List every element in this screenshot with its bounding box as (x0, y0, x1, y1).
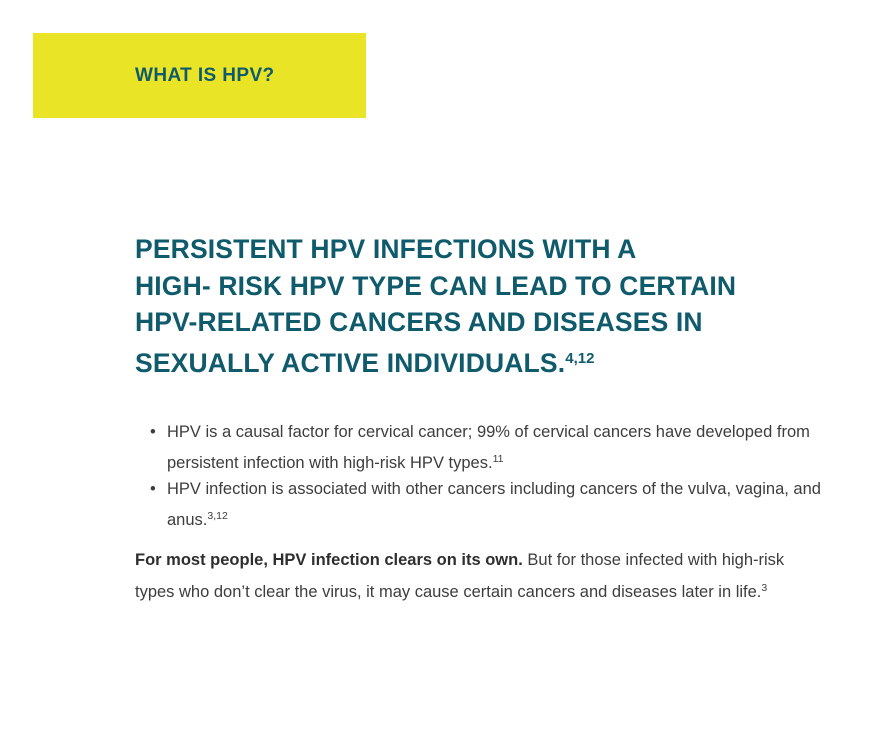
fact-bullet-list: •HPV is a causal factor for cervical can… (150, 419, 830, 533)
page-root: WHAT IS HPV? PERSISTENT HPV INFECTIONS W… (0, 0, 873, 738)
headline-line-3: HPV-RELATED CANCERS AND DISEASES IN (135, 307, 703, 337)
banner-title: WHAT IS HPV? (135, 65, 275, 87)
closing-paragraph: For most people, HPV infection clears on… (135, 546, 825, 606)
bullet-marker: • (150, 419, 156, 446)
closing-citation: 3 (761, 582, 767, 594)
headline-line-1: PERSISTENT HPV INFECTIONS WITH A (135, 234, 636, 264)
list-item-text: HPV is a causal factor for cervical canc… (167, 423, 810, 472)
section-banner: WHAT IS HPV? (33, 33, 366, 118)
list-item: •HPV infection is associated with other … (150, 476, 830, 533)
list-item: •HPV is a causal factor for cervical can… (150, 419, 830, 476)
list-item-citation: 11 (493, 453, 504, 465)
page-title: PERSISTENT HPV INFECTIONS WITH A HIGH- R… (135, 231, 835, 381)
list-item-citation: 3,12 (207, 510, 227, 522)
closing-lead-in: For most people, HPV infection clears on… (135, 551, 523, 569)
content-column: PERSISTENT HPV INFECTIONS WITH A HIGH- R… (135, 231, 835, 381)
headline-line-2: HIGH- RISK HPV TYPE CAN LEAD TO CERTAIN (135, 271, 736, 301)
headline-line-4: SEXUALLY ACTIVE INDIVIDUALS. (135, 348, 565, 378)
bullet-marker: • (150, 476, 156, 503)
list-item-text: HPV infection is associated with other c… (167, 480, 821, 529)
headline-citation: 4,12 (565, 350, 594, 367)
